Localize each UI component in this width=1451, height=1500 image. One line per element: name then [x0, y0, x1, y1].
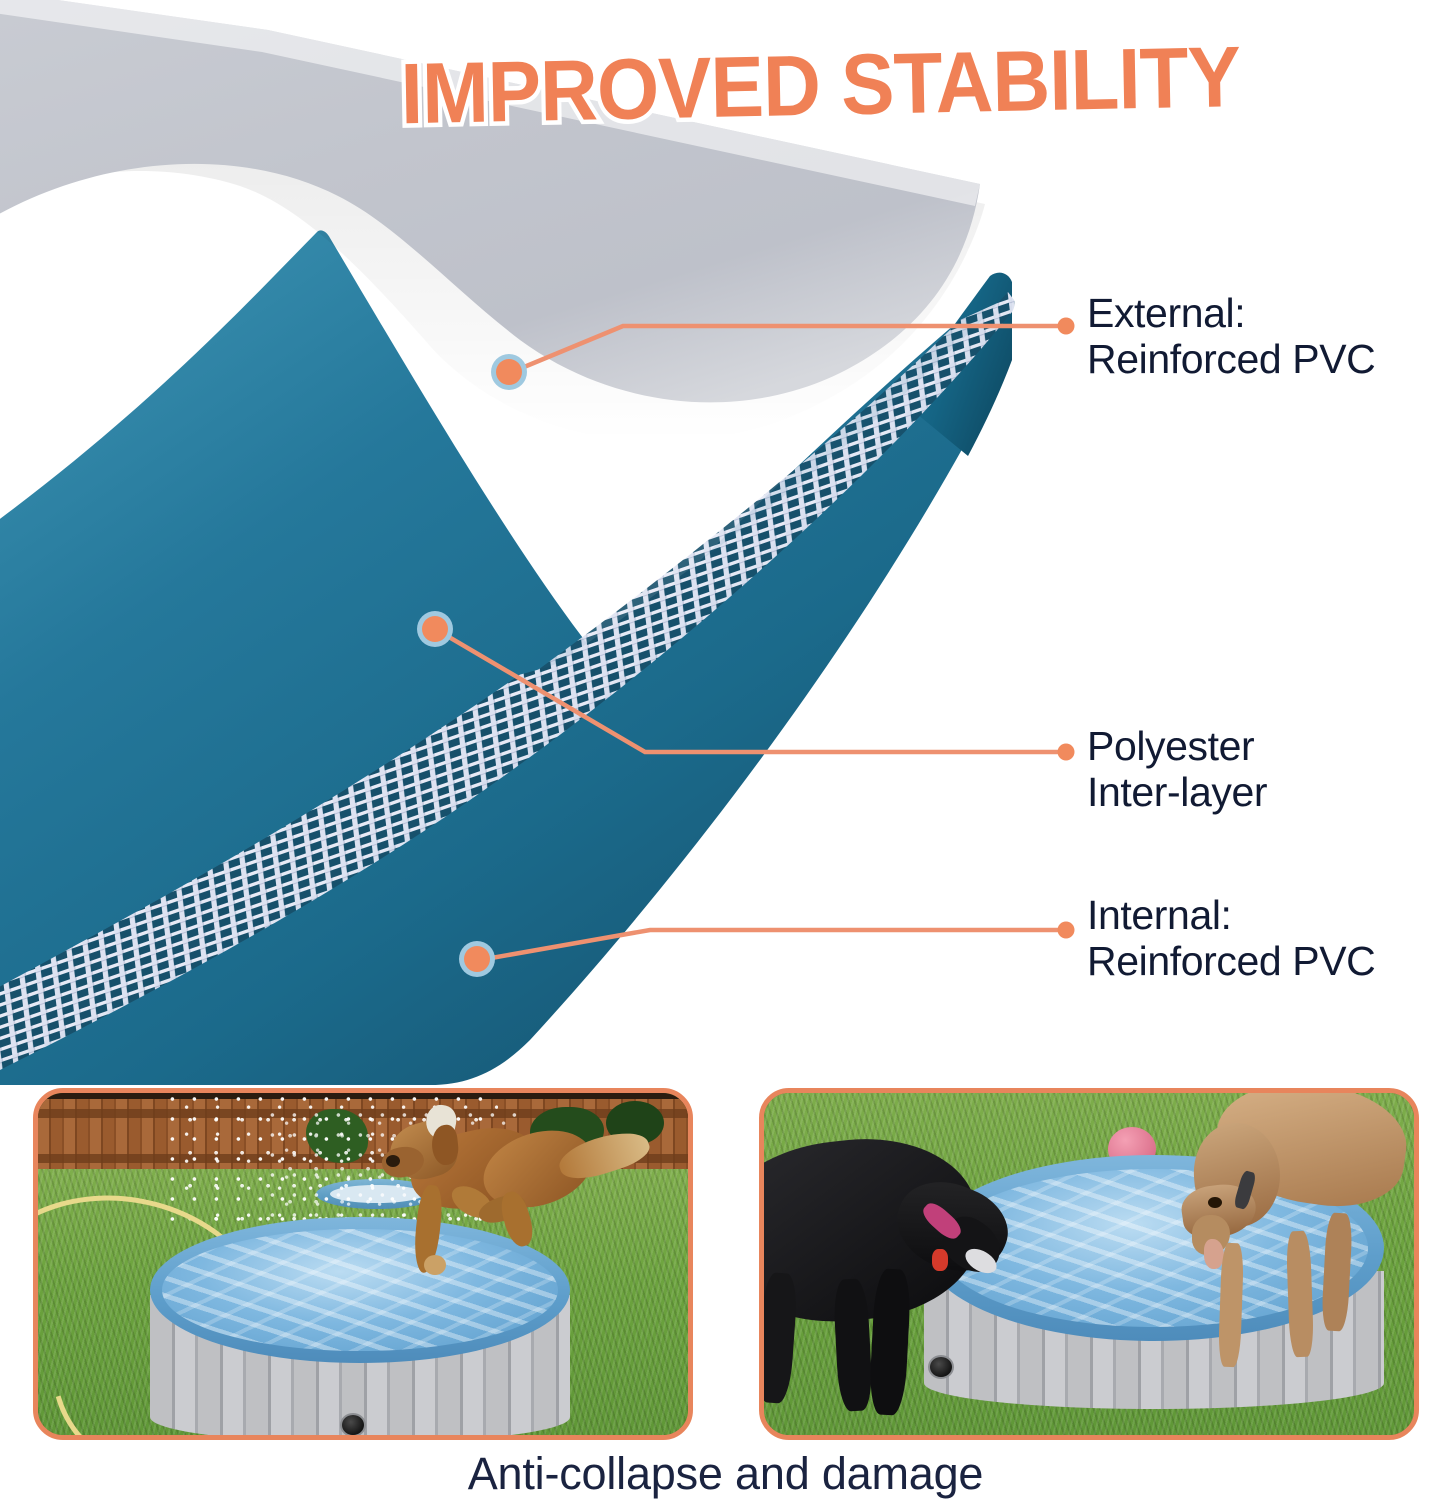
hotspot-external-icon [496, 359, 522, 385]
photo-left-scene [38, 1093, 688, 1435]
callout-polyester: Polyester Inter-layer [1087, 724, 1267, 816]
photo-row-caption: Anti-collapse and damage [0, 1448, 1451, 1500]
callout-polyester-line2: Inter-layer [1087, 770, 1267, 816]
callout-external-line1: External: [1087, 291, 1375, 337]
hotspot-polyester-icon [422, 616, 448, 642]
dog-pool [150, 1217, 570, 1435]
callout-external: External: Reinforced PVC [1087, 291, 1375, 383]
leader-end-dot-polyester [1058, 744, 1075, 761]
callout-internal-line2: Reinforced PVC [1087, 939, 1375, 985]
photo-row [0, 1088, 1451, 1443]
leader-end-dots [1058, 318, 1075, 939]
callout-polyester-line1: Polyester [1087, 724, 1267, 770]
callout-internal: Internal: Reinforced PVC [1087, 893, 1375, 985]
photo-right [759, 1088, 1419, 1440]
leader-end-dot-internal [1058, 922, 1075, 939]
callout-internal-line1: Internal: [1087, 893, 1375, 939]
layer-diagram: IMPROVED STABILITY External: Reinforced … [0, 0, 1451, 1085]
photo-left [33, 1088, 693, 1440]
photo-right-scene [764, 1093, 1414, 1435]
hotspot-internal-icon [464, 946, 490, 972]
callout-external-line2: Reinforced PVC [1087, 337, 1375, 383]
leader-end-dot-external [1058, 318, 1075, 335]
